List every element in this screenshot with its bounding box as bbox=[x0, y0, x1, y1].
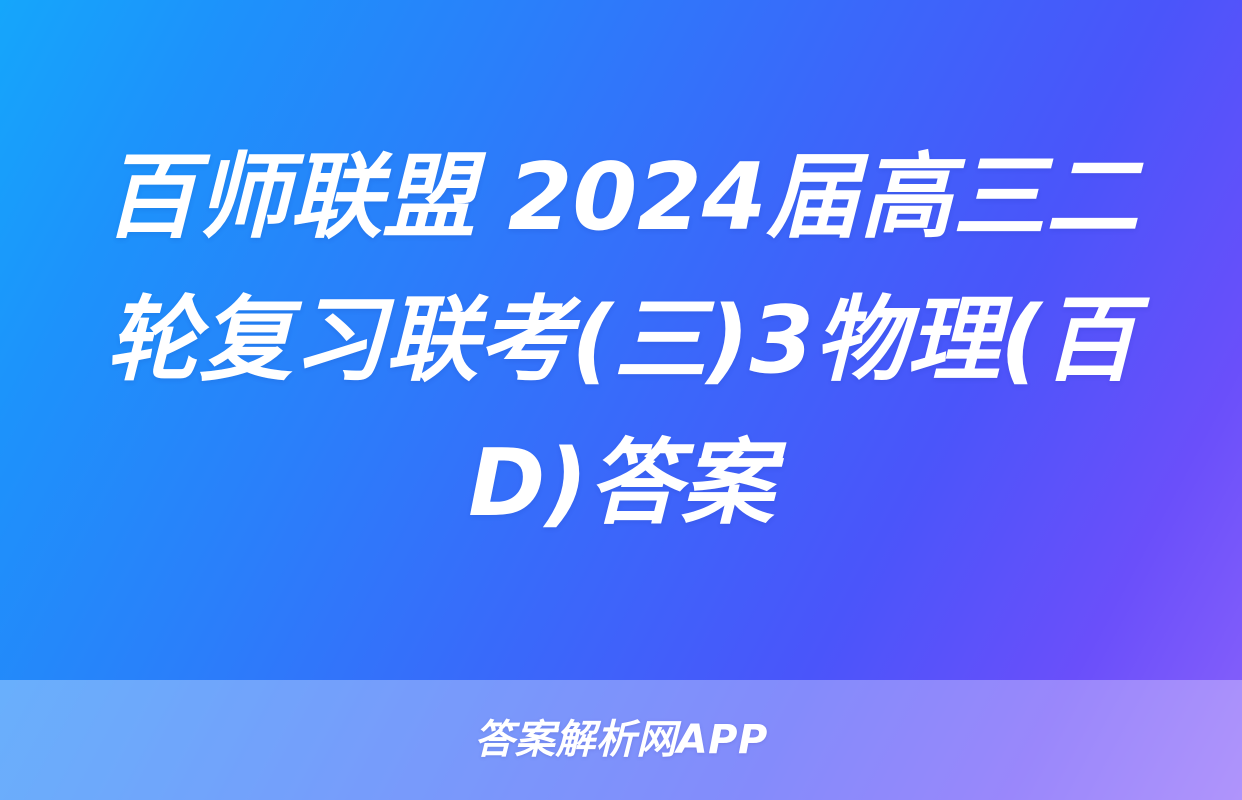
watermark-band: 答案解析网APP bbox=[0, 680, 1242, 800]
page-title: 百师联盟 2024届高三二轮复习联考(三)3物理(百D)答案 bbox=[72, 126, 1170, 555]
watermark-app-name: 答案解析网APP bbox=[474, 717, 768, 763]
title-area: 百师联盟 2024届高三二轮复习联考(三)3物理(百D)答案 bbox=[0, 0, 1242, 680]
cover-page: 百师联盟 2024届高三二轮复习联考(三)3物理(百D)答案 答案解析网APP bbox=[0, 0, 1242, 800]
